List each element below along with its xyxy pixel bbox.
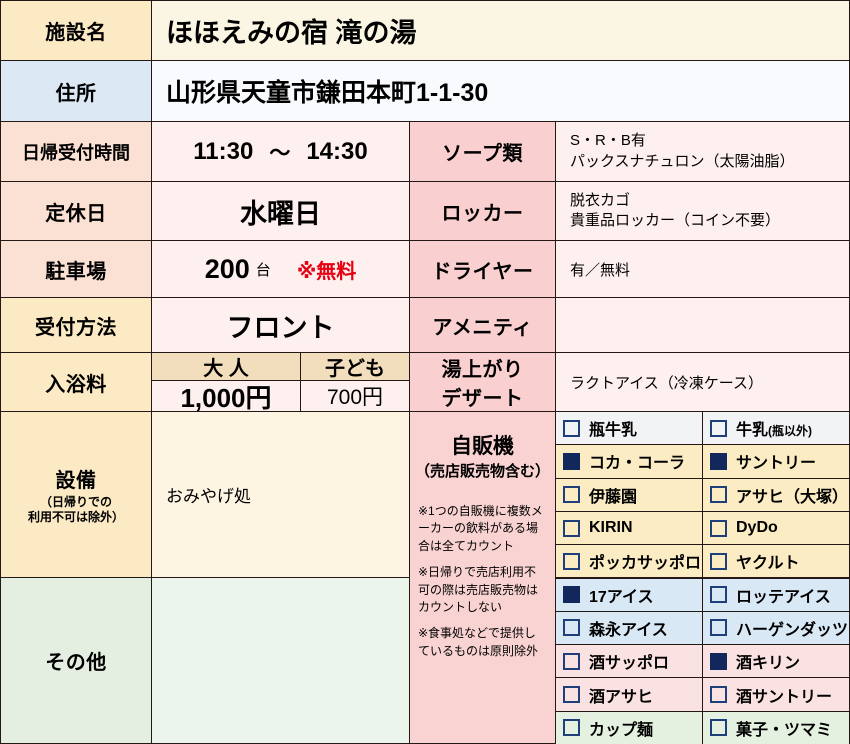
fee-child-header: 子ども — [300, 352, 410, 381]
dessert-label: 湯上がり デザート — [409, 352, 556, 412]
closed-day-label: 定休日 — [0, 181, 152, 241]
checklist-item-label: ロッテアイス — [736, 583, 831, 607]
equipment-label: 設備 （日帰りでの 利用不可は除外） — [0, 411, 152, 578]
checkbox-unchecked-icon[interactable] — [710, 619, 727, 636]
soap-value-line2: パックスナチュロン（太陽油脂） — [570, 152, 795, 172]
checklist-item-label-suffix: (瓶以外) — [768, 424, 812, 438]
checklist-item[interactable]: 酒サッポロ — [555, 644, 703, 678]
dryer-label: ドライヤー — [409, 240, 556, 298]
parking-count-text: 200 — [205, 254, 250, 285]
checkbox-unchecked-icon[interactable] — [710, 719, 727, 736]
locker-value-line2: 貴重品ロッカー（コイン不要） — [570, 211, 780, 231]
fee-child-header-text: 子ども — [325, 352, 385, 381]
soap-label-text: ソープ類 — [442, 137, 523, 166]
address-label: 住所 — [0, 60, 152, 122]
checklist-item[interactable]: 森永アイス — [555, 611, 703, 645]
bath-fee-label-text: 入浴料 — [45, 368, 107, 397]
hours-separator: ～ — [269, 137, 290, 167]
fee-adult-header-text: 大 人 — [203, 352, 249, 381]
checklist-item[interactable]: 17アイス — [555, 578, 703, 612]
checkbox-checked-icon[interactable] — [563, 586, 580, 603]
checkbox-checked-icon[interactable] — [710, 653, 727, 670]
parking-free-note: ※無料 — [297, 255, 356, 284]
fee-adult-value: 1,000円 — [151, 380, 301, 412]
equipment-value-text: おみやげ処 — [166, 482, 251, 507]
checklist-item-label: アサヒ（大塚） — [736, 483, 848, 507]
checkbox-unchecked-icon[interactable] — [710, 686, 727, 703]
reception-value-text: フロント — [227, 306, 335, 345]
checklist-item-label: 酒サッポロ — [589, 649, 669, 673]
vending-machine-subtitle: （売店販売物含む） — [415, 460, 550, 481]
address-value-text: 山形県天童市鎌田本町1-1-30 — [166, 73, 488, 109]
locker-label-text: ロッカー — [442, 197, 524, 226]
dessert-value-text: ラクトアイス（冷凍ケース） — [570, 372, 763, 393]
checkbox-unchecked-icon[interactable] — [710, 553, 727, 570]
checklist-item[interactable]: カップ麺 — [555, 711, 703, 744]
checklist-item-label: 瓶牛乳 — [589, 416, 637, 440]
checklist-item-label: 森永アイス — [589, 616, 668, 640]
fee-child-value: 700円 — [300, 380, 410, 412]
facility-name-label-text: 施設名 — [45, 16, 107, 45]
checkbox-unchecked-icon[interactable] — [563, 619, 580, 636]
vending-machine-notes: ※1つの自販機に複数メーカーの飲料がある場合は全てカウント ※日帰りで売店利用不… — [410, 503, 555, 669]
other-label: その他 — [0, 577, 152, 744]
other-value — [151, 577, 410, 744]
checkbox-checked-icon[interactable] — [710, 453, 727, 470]
fee-child-value-text: 700円 — [327, 381, 383, 411]
parking-label: 駐車場 — [0, 240, 152, 298]
checkbox-unchecked-icon[interactable] — [563, 686, 580, 703]
facility-name-label: 施設名 — [0, 0, 152, 61]
checkbox-unchecked-icon[interactable] — [563, 719, 580, 736]
checklist-item-label: KIRIN — [589, 519, 633, 537]
hours-value: 11:30 ～ 14:30 — [151, 121, 410, 182]
closed-day-value-text: 水曜日 — [240, 192, 321, 231]
reception-label: 受付方法 — [0, 297, 152, 353]
checklist-item[interactable]: ハーゲンダッツ — [702, 611, 850, 645]
soap-value-line1: S・R・B有 — [570, 131, 646, 151]
checklist-item[interactable]: アサヒ（大塚） — [702, 478, 850, 512]
checklist-item[interactable]: KIRIN — [555, 511, 703, 545]
checklist-item-label: 酒キリン — [736, 649, 800, 673]
checklist-item-label: コカ・コーラ — [589, 449, 685, 473]
dessert-label-line2: デザート — [442, 382, 524, 411]
address-value: 山形県天童市鎌田本町1-1-30 — [151, 60, 850, 122]
amenity-label-text: アメニティ — [432, 311, 532, 340]
checkbox-unchecked-icon[interactable] — [710, 586, 727, 603]
checklist-item-label: 菓子・ツマミ — [736, 716, 832, 740]
facility-name-value: ほほえみの宿 滝の湯 — [151, 0, 850, 61]
checklist-item-label: 伊藤園 — [589, 483, 637, 507]
reception-value: フロント — [151, 297, 410, 353]
vending-machine-label: 自販機 （売店販売物含む） ※1つの自販機に複数メーカーの飲料がある場合は全てカ… — [409, 411, 556, 744]
equipment-sub-line1: （日帰りでの — [40, 495, 112, 510]
soap-value: S・R・B有 パックスナチュロン（太陽油脂） — [555, 121, 850, 182]
closed-day-label-text: 定休日 — [45, 197, 107, 226]
fee-adult-header: 大 人 — [151, 352, 301, 381]
checklist-item[interactable]: 伊藤園 — [555, 478, 703, 512]
checkbox-unchecked-icon[interactable] — [710, 420, 727, 437]
checklist-item-label: 牛乳(瓶以外) — [736, 416, 812, 440]
locker-value: 脱衣カゴ 貴重品ロッカー（コイン不要） — [555, 181, 850, 241]
checklist-item[interactable]: 瓶牛乳 — [555, 411, 703, 445]
parking-unit-text: 台 — [256, 259, 271, 280]
reception-label-text: 受付方法 — [35, 311, 117, 340]
hours-label: 日帰受付時間 — [0, 121, 152, 182]
parking-value: 200 台 ※無料 — [151, 240, 410, 298]
checkbox-checked-icon[interactable] — [563, 453, 580, 470]
checklist-item[interactable]: ロッテアイス — [702, 578, 850, 612]
checklist-item[interactable]: 酒サントリー — [702, 677, 850, 711]
checklist-item-label: 酒アサヒ — [589, 683, 653, 707]
vending-note-2: ※日帰りで売店利用不可の際は売店販売物はカウントしない — [418, 564, 547, 616]
checkbox-unchecked-icon[interactable] — [563, 553, 580, 570]
vending-note-1: ※1つの自販機に複数メーカーの飲料がある場合は全てカウント — [418, 503, 547, 555]
facility-info-sheet: 施設名 ほほえみの宿 滝の湯 住所 山形県天童市鎌田本町1-1-30 日帰受付時… — [0, 0, 850, 744]
bath-fee-label: 入浴料 — [0, 352, 152, 412]
checklist-item[interactable]: 牛乳(瓶以外) — [702, 411, 850, 445]
checkbox-unchecked-icon[interactable] — [563, 420, 580, 437]
soap-label: ソープ類 — [409, 121, 556, 182]
vending-note-3: ※食事処などで提供しているものは原則除外 — [418, 625, 547, 660]
dryer-value: 有／無料 — [555, 240, 850, 298]
checklist-item-label: DyDo — [736, 519, 778, 537]
checkbox-unchecked-icon[interactable] — [563, 486, 580, 503]
checkbox-unchecked-icon[interactable] — [563, 520, 580, 537]
fee-adult-value-text: 1,000円 — [180, 380, 271, 412]
dryer-value-text: 有／無料 — [570, 259, 630, 280]
checklist-item-label: ポッカサッポロ — [589, 549, 701, 573]
dessert-label-line1: 湯上がり — [442, 353, 524, 382]
amenity-value — [555, 297, 850, 353]
checklist-item[interactable]: ポッカサッポロ — [555, 544, 703, 578]
closed-day-value: 水曜日 — [151, 181, 410, 241]
facility-name-value-text: ほほえみの宿 滝の湯 — [166, 11, 417, 50]
checklist-item-label: ハーゲンダッツ — [736, 616, 848, 640]
amenity-label: アメニティ — [409, 297, 556, 353]
checklist-item[interactable]: 菓子・ツマミ — [702, 711, 850, 744]
checklist-item-label: カップ麺 — [589, 716, 653, 740]
vending-machine-title: 自販機 — [451, 430, 514, 460]
checklist-item-label: 17アイス — [589, 583, 654, 607]
checklist-item[interactable]: DyDo — [702, 511, 850, 545]
checklist-item-label: ヤクルト — [736, 549, 800, 573]
other-label-text: その他 — [45, 646, 107, 675]
hours-from-text: 11:30 — [193, 138, 253, 166]
equipment-label-text: 設備 — [56, 464, 97, 493]
hours-label-text: 日帰受付時間 — [22, 139, 130, 165]
checkbox-unchecked-icon[interactable] — [710, 486, 727, 503]
checklist-item[interactable]: 酒キリン — [702, 644, 850, 678]
checklist-item[interactable]: コカ・コーラ — [555, 444, 703, 478]
checklist-item[interactable]: ヤクルト — [702, 544, 850, 578]
checkbox-unchecked-icon[interactable] — [563, 653, 580, 670]
checklist-item[interactable]: サントリー — [702, 444, 850, 478]
locker-label: ロッカー — [409, 181, 556, 241]
equipment-sub-line2: 利用不可は除外） — [28, 510, 124, 525]
equipment-value: おみやげ処 — [151, 411, 410, 578]
checklist-item[interactable]: 酒アサヒ — [555, 677, 703, 711]
parking-label-text: 駐車場 — [45, 255, 107, 284]
checklist-item-label: サントリー — [736, 449, 816, 473]
checklist-item-label: 酒サントリー — [736, 683, 832, 707]
dessert-value: ラクトアイス（冷凍ケース） — [555, 352, 850, 412]
address-label-text: 住所 — [56, 77, 97, 106]
locker-value-line1: 脱衣カゴ — [570, 191, 630, 211]
checkbox-unchecked-icon[interactable] — [710, 520, 727, 537]
dryer-label-text: ドライヤー — [432, 255, 534, 284]
hours-to-text: 14:30 — [306, 138, 367, 166]
